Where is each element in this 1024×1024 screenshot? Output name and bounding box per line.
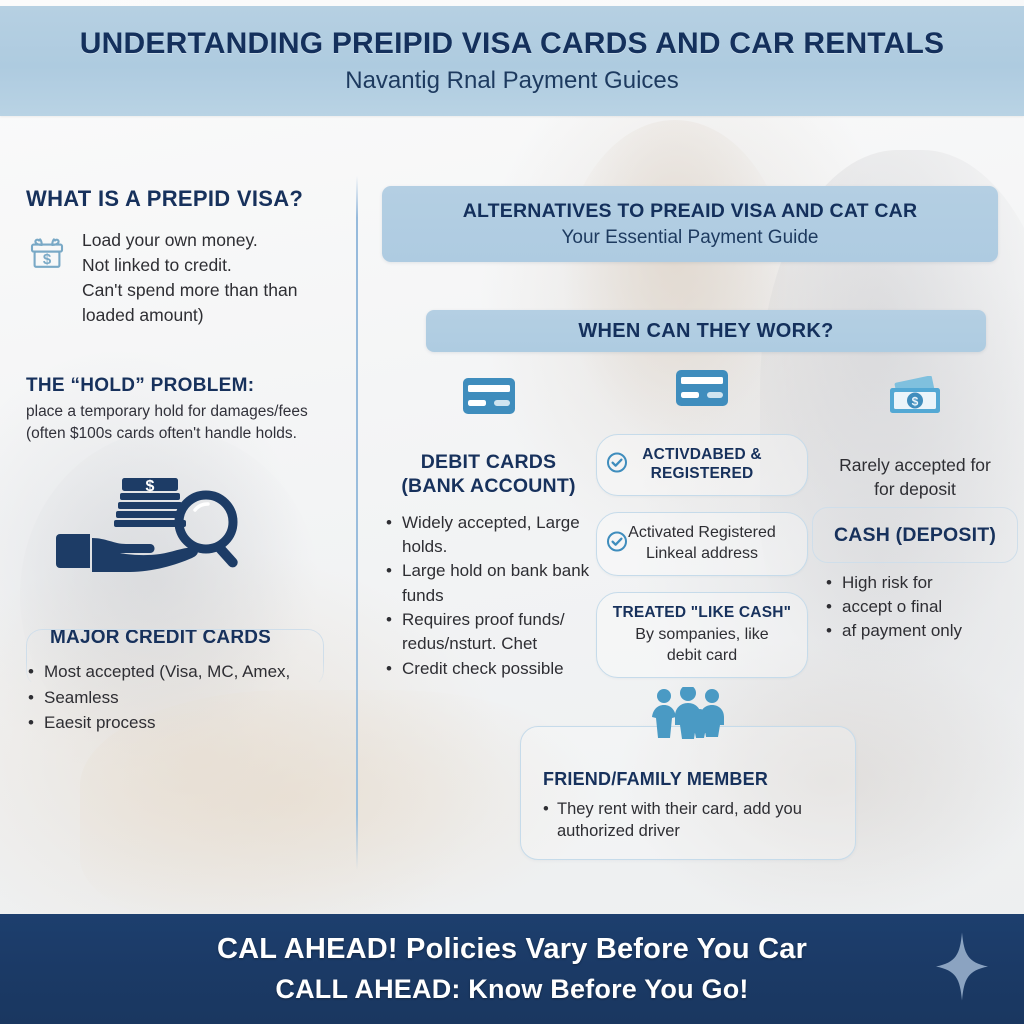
- list-item: Requires proof funds/ redus/nsturt. Chet: [386, 608, 591, 657]
- family-group-icon: [646, 687, 730, 744]
- credit-card-icon: [386, 376, 591, 416]
- hold-problem-line: (often $100s cards often't handle holds.: [26, 423, 374, 444]
- footer-banner: CAL AHEAD! Policies Vary Before You Car …: [0, 914, 1024, 1024]
- cash-deposit-column: $ Rarely accepted for for deposit CASH (…: [812, 376, 1018, 643]
- cash-availability-note: Rarely accepted for for deposit: [812, 454, 1018, 501]
- svg-text:$: $: [912, 395, 919, 409]
- hold-problem-title: THE “HOLD” PROBLEM:: [26, 375, 374, 397]
- svg-text:$: $: [146, 478, 155, 495]
- debit-cards-title: DEBIT CARDS (BANK ACCOUNT): [386, 450, 591, 499]
- list-item: Widely accepted, Large holds.: [386, 511, 591, 560]
- cash-note-line1: Rarely accepted for: [812, 454, 1018, 478]
- infographic-poster: UNDERTANDING PREIPID VISA CARDS AND CAR …: [0, 0, 1024, 1024]
- debit-cards-list: Widely accepted, Large holds. Large hold…: [386, 511, 591, 681]
- banknotes-dollar-icon: $: [812, 376, 1018, 418]
- when-can-they-work-label: WHEN CAN THEY WORK?: [578, 320, 833, 343]
- pill-treated-like-cash-title: TREATED "LIKE CASH": [611, 603, 793, 622]
- debit-cards-title-line1: DEBIT CARDS: [386, 450, 591, 474]
- svg-text:$: $: [43, 251, 52, 268]
- intro-line: loaded amount): [82, 303, 297, 328]
- when-can-they-work-banner: WHEN CAN THEY WORK?: [426, 310, 986, 352]
- pill-treated-like-cash-text: By sompanies, like debit card: [611, 625, 793, 667]
- footer-line-2: CALL AHEAD: Know Before You Go!: [275, 974, 748, 1005]
- header-banner: UNDERTANDING PREIPID VISA CARDS AND CAR …: [0, 6, 1024, 116]
- hold-problem-block: THE “HOLD” PROBLEM: place a temporary ho…: [26, 375, 374, 444]
- pill-treated-like-cash: TREATED "LIKE CASH" By sompanies, like d…: [596, 592, 808, 678]
- conditions-column: ACTIVDABED & REGISTERED Activated Regist…: [596, 368, 808, 678]
- alternatives-banner: ALTERNATIVES TO PREAID VISA AND CAT CAR …: [382, 186, 998, 262]
- list-item: Large hold on bank bank funds: [386, 559, 591, 608]
- sparkle-diamond-icon: [934, 931, 990, 1008]
- hold-problem-line: place a temporary hold for damages/fees: [26, 401, 374, 422]
- debit-cards-title-line2: (BANK ACCOUNT): [386, 474, 591, 498]
- list-item: Eaesit process: [26, 710, 374, 736]
- hand-cash-magnifier-icon: $: [54, 472, 374, 589]
- list-item-continuation: af payment only: [826, 619, 1018, 643]
- section-title-what-is-prepaid: WHAT IS A PREPID VISA?: [26, 186, 374, 212]
- footer-line-1: CAL AHEAD! Policies Vary Before You Car: [217, 933, 807, 966]
- friend-family-list: They rent with their card, add you autho…: [521, 798, 855, 843]
- debit-cards-column: DEBIT CARDS (BANK ACCOUNT) Widely accept…: [386, 376, 591, 681]
- check-circle-icon: [606, 451, 628, 478]
- list-item: Credit check possible: [386, 657, 591, 681]
- credit-card-icon: [596, 368, 808, 408]
- prepaid-intro-row: $ Load your own money. Not linked to cre…: [26, 228, 374, 327]
- cash-note-line2: for deposit: [812, 478, 1018, 502]
- friend-family-card: FRIEND/FAMILY MEMBER They rent with thei…: [520, 726, 856, 860]
- cash-deposit-card: CASH (DEPOSIT): [812, 507, 1018, 563]
- gift-card-dollar-icon: $: [26, 232, 68, 279]
- prepaid-intro-text: Load your own money. Not linked to credi…: [82, 228, 297, 327]
- pill-activated-registered: ACTIVDABED & REGISTERED: [596, 434, 808, 496]
- cash-deposit-title: CASH (DEPOSIT): [834, 524, 996, 547]
- list-item: High risk for: [826, 571, 1018, 595]
- list-item: Most accepted (Visa, MC, Amex,: [26, 659, 374, 685]
- pill-activated-registered-text: ACTIVDABED & REGISTERED: [611, 445, 793, 484]
- list-item: Seamless: [26, 685, 374, 711]
- alternatives-banner-title: ALTERNATIVES TO PREAID VISA AND CAT CAR: [463, 200, 918, 223]
- check-circle-icon: [606, 531, 628, 558]
- alternatives-banner-subtitle: Your Essential Payment Guide: [561, 227, 818, 249]
- left-column: WHAT IS A PREPID VISA? $ Load your own m…: [26, 186, 374, 736]
- cash-deposit-list: High risk for accept o final af payment …: [826, 571, 1018, 642]
- major-credit-cards-list: Most accepted (Visa, MC, Amex, Seamless …: [26, 659, 374, 736]
- page-title: UNDERTANDING PREIPID VISA CARDS AND CAR …: [80, 27, 944, 61]
- intro-line: Can't spend more than than: [82, 278, 297, 303]
- intro-line: Load your own money.: [82, 228, 297, 253]
- page-subtitle: Navantig Rnal Payment Guices: [345, 67, 679, 95]
- major-credit-cards-card: MAJOR CREDIT CARDS Most accepted (Visa, …: [26, 611, 374, 736]
- intro-line: Not linked to credit.: [82, 253, 297, 278]
- list-item: They rent with their card, add you autho…: [543, 798, 839, 843]
- pill-activated-linked-address-text: Activated Registered Linkeal address: [611, 523, 793, 565]
- pill-activated-linked-address: Activated Registered Linkeal address: [596, 512, 808, 577]
- major-credit-cards-title: MAJOR CREDIT CARDS: [26, 611, 374, 649]
- list-item-continuation: accept o final: [826, 595, 1018, 619]
